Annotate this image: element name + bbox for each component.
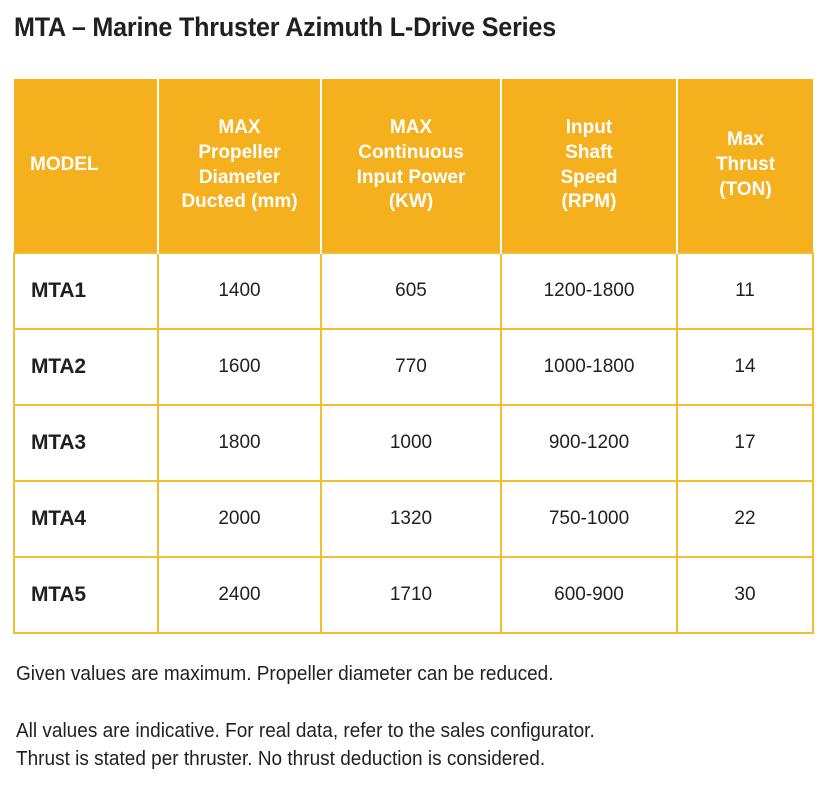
cell-dia: 1600	[158, 329, 321, 405]
cell-thrust: 17	[677, 405, 813, 481]
cell-speed: 900-1200	[501, 405, 677, 481]
column-header-continuous-input-power: MAX Continuous Input Power (KW)	[321, 79, 501, 253]
cell-dia: 2000	[158, 481, 321, 557]
column-header-input-shaft-speed: Input Shaft Speed (RPM)	[501, 79, 677, 253]
table-row: MTA3 1800 1000 900-1200 17	[14, 405, 813, 481]
table-header-row: MODEL MAX Propeller Diameter Ducted (mm)…	[14, 79, 813, 253]
cell-speed: 1000-1800	[501, 329, 677, 405]
cell-power: 1710	[321, 557, 501, 633]
footnotes: Given values are maximum. Propeller diam…	[16, 660, 806, 773]
cell-speed: 750-1000	[501, 481, 677, 557]
table-row: MTA4 2000 1320 750-1000 22	[14, 481, 813, 557]
footnote-propeller-diameter: Given values are maximum. Propeller diam…	[16, 660, 767, 688]
cell-power: 1000	[321, 405, 501, 481]
column-header-propeller-diameter: MAX Propeller Diameter Ducted (mm)	[158, 79, 321, 253]
cell-thrust: 30	[677, 557, 813, 633]
table-header: MODEL MAX Propeller Diameter Ducted (mm)…	[14, 79, 813, 253]
table-row: MTA1 1400 605 1200-1800 11	[14, 253, 813, 329]
cell-speed: 1200-1800	[501, 253, 677, 329]
cell-model: MTA4	[14, 481, 158, 557]
cell-model: MTA3	[14, 405, 158, 481]
specifications-table: MODEL MAX Propeller Diameter Ducted (mm)…	[13, 79, 814, 634]
table-row: MTA5 2400 1710 600-900 30	[14, 557, 813, 633]
cell-power: 1320	[321, 481, 501, 557]
cell-dia: 1400	[158, 253, 321, 329]
cell-model: MTA2	[14, 329, 158, 405]
column-header-max-thrust: Max Thrust (TON)	[677, 79, 813, 253]
cell-speed: 600-900	[501, 557, 677, 633]
cell-thrust: 11	[677, 253, 813, 329]
cell-dia: 2400	[158, 557, 321, 633]
page-title: MTA – Marine Thruster Azimuth L-Drive Se…	[14, 12, 556, 43]
cell-model: MTA5	[14, 557, 158, 633]
cell-power: 605	[321, 253, 501, 329]
cell-dia: 1800	[158, 405, 321, 481]
footnote-indicative-values: All values are indicative. For real data…	[16, 717, 767, 773]
table-body: MTA1 1400 605 1200-1800 11 MTA2 1600 770…	[14, 253, 813, 633]
column-header-model: MODEL	[14, 79, 158, 253]
spec-sheet-page: MTA – Marine Thruster Azimuth L-Drive Se…	[0, 0, 830, 799]
cell-thrust: 14	[677, 329, 813, 405]
cell-power: 770	[321, 329, 501, 405]
cell-model: MTA1	[14, 253, 158, 329]
table-row: MTA2 1600 770 1000-1800 14	[14, 329, 813, 405]
cell-thrust: 22	[677, 481, 813, 557]
